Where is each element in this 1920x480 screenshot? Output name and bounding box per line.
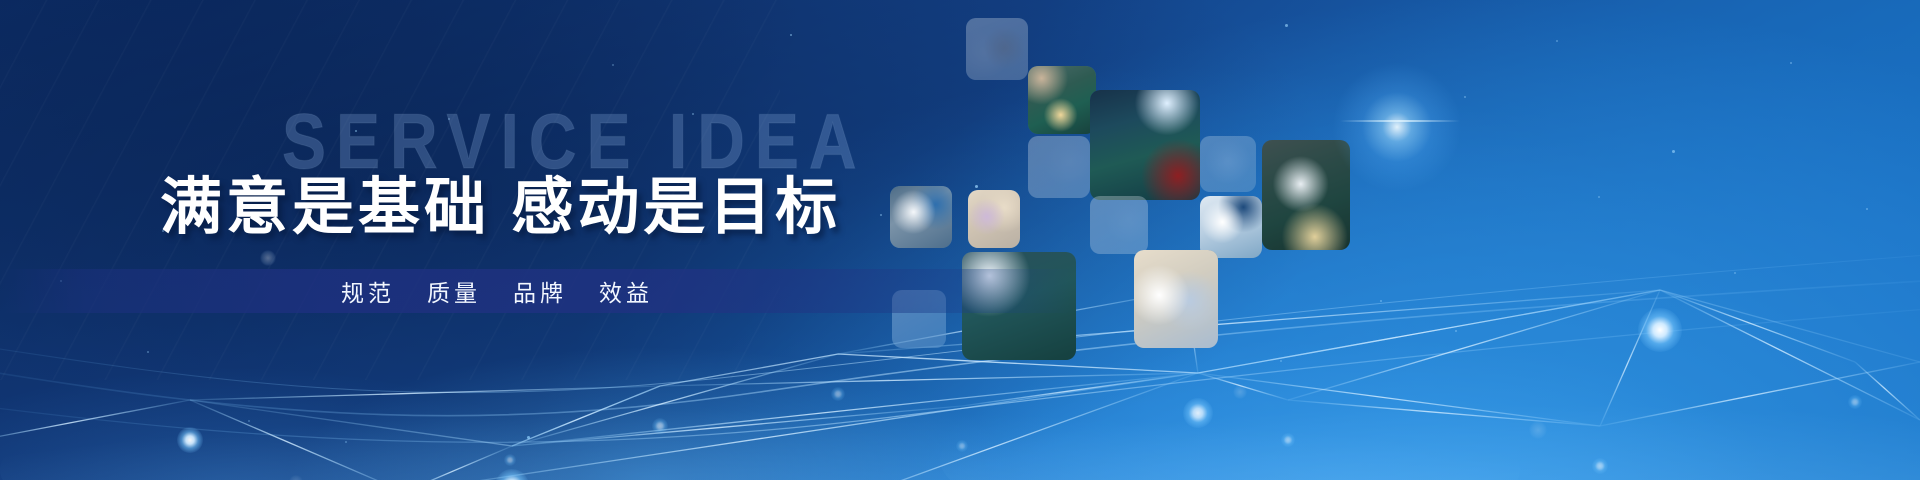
tile-surgery-team[interactable] [1028,66,1096,134]
photo-thumbnail [1028,66,1096,134]
photo-thumbnail [1090,196,1148,254]
subtitle-keyword: 规范 [341,274,395,308]
tile-clinic-left[interactable] [890,186,952,248]
tile-endoscopy[interactable] [1200,196,1262,258]
photo-thumbnail [966,18,1028,80]
tile-desk-doctor-2[interactable] [1090,196,1148,254]
photo-thumbnail [1090,90,1200,200]
photo-thumbnail [1134,250,1218,348]
photo-thumbnail [1262,140,1350,250]
tile-operating-room[interactable] [1090,90,1200,200]
tile-stethoscope-exam[interactable] [1134,250,1218,348]
photo-thumbnail [1200,196,1262,258]
photo-thumbnail [968,190,1020,248]
photo-thumbnail [1200,136,1256,192]
subtitle-keyword: 品牌 [513,274,567,308]
subtitle-keywords: 规范质量品牌效益 [341,270,653,312]
photo-thumbnail [890,186,952,248]
tile-consultation-top[interactable] [966,18,1028,80]
subtitle-keyword: 质量 [427,274,481,308]
page-title: 满意是基础 感动是目标 [160,175,841,240]
tile-desk-doctor[interactable] [1028,136,1090,198]
photo-thumbnail [1028,136,1090,198]
service-idea-banner: SERVICE IDEA 满意是基础 感动是目标 规范质量品牌效益 [0,0,1920,480]
tile-xray-panel[interactable] [1200,136,1256,192]
tile-surgeon-closeup[interactable] [1262,140,1350,250]
tile-bedside-care[interactable] [968,190,1020,248]
subtitle-keyword: 效益 [599,274,653,308]
